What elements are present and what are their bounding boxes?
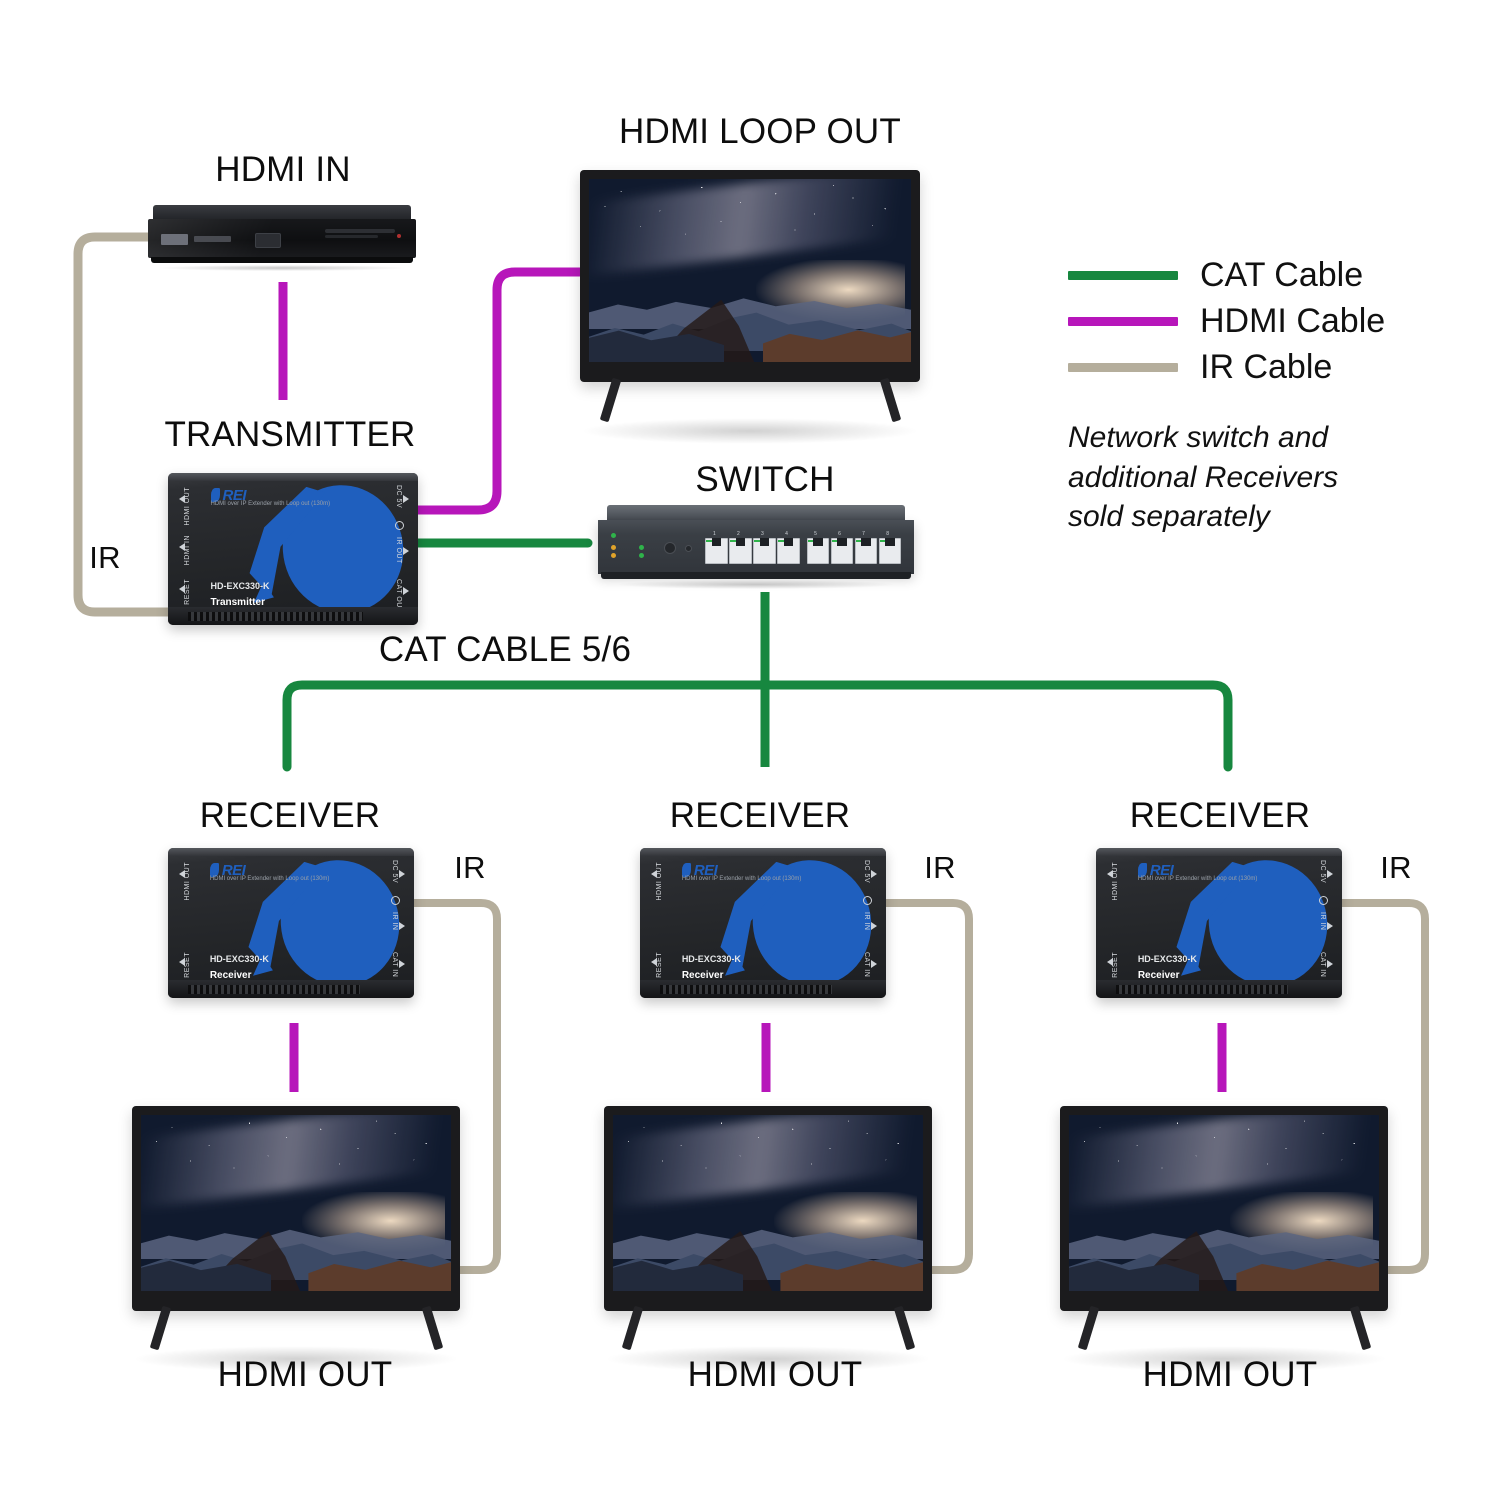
- port-hdmi-out: HDMI OUT: [184, 862, 191, 901]
- switch-power-led: [611, 533, 616, 538]
- port-led-1: [706, 540, 712, 542]
- port-led-3: [754, 540, 760, 542]
- port-led-4: [778, 540, 784, 542]
- tv-foot-right: [880, 378, 901, 423]
- port-hdmi-out: HDMI OUT: [184, 487, 191, 526]
- tv-shadow: [132, 1346, 460, 1372]
- dvd-display: [325, 235, 379, 238]
- port-cat-in: CAT IN: [1319, 952, 1326, 977]
- port-marker-dc: [399, 870, 405, 878]
- dvd-tray-icon: [255, 233, 281, 248]
- port-hdmi-out: HDMI OUT: [1112, 862, 1119, 901]
- port-marker-cat-out: [403, 587, 409, 595]
- switch-port-7[interactable]: [855, 538, 877, 564]
- label-hdmi-loop-out: HDMI LOOP OUT: [555, 112, 965, 152]
- dvd-logo-icon: [161, 234, 188, 244]
- tv-shadow: [580, 418, 920, 444]
- device-model: HD-EXC330-K: [682, 954, 741, 964]
- label-switch: SWITCH: [605, 460, 925, 500]
- device-subtitle: HDMI over IP Extender with Loop out (130…: [1138, 876, 1258, 882]
- tv-screen: [141, 1115, 451, 1291]
- dvd-front-panel: [148, 219, 416, 259]
- switch-shadow: [617, 580, 895, 588]
- switch-front-panel: 1 2 3 4 5 6 7 8: [598, 520, 914, 574]
- dvd-disc-slot: [325, 229, 395, 233]
- chassis-vents: [188, 612, 363, 621]
- port-marker-cat-in: [399, 960, 405, 968]
- label-ir-transmitter: IR: [75, 540, 135, 576]
- port-ir-in: IR IN: [391, 912, 398, 930]
- device-model: HD-EXC330-K: [211, 581, 270, 591]
- port-led-5: [808, 540, 814, 542]
- transmitter-device: REI HDMI over IP Extender with Loop out …: [168, 473, 418, 625]
- label-hdmi-in: HDMI IN: [83, 150, 483, 190]
- receiver-device-1: REI HDMI over IP Extender with Loop out …: [168, 848, 414, 998]
- port-ir-in: IR IN: [863, 912, 870, 930]
- legend-item-ir: IR Cable: [1068, 344, 1385, 390]
- tv-loop-out: [580, 170, 920, 382]
- device-subtitle: HDMI over IP Extender with Loop out (130…: [210, 876, 330, 882]
- port-number-8: 8: [886, 531, 889, 537]
- device-subtitle: HDMI over IP Extender with Loop out (130…: [682, 876, 802, 882]
- port-ir-out: IR OUT: [395, 537, 402, 564]
- port-marker-reset: [179, 958, 185, 966]
- legend-label-cat: CAT Cable: [1200, 256, 1363, 295]
- label-receiver-2: RECEIVER: [565, 796, 955, 836]
- device-subtitle: HDMI over IP Extender with Loop out (130…: [211, 501, 331, 507]
- receiver-device-3: REI HDMI over IP Extender with Loop out …: [1096, 848, 1342, 998]
- port-marker-ir-out: [403, 547, 409, 555]
- port-dc-5v: DC 5V: [391, 860, 398, 883]
- label-transmitter: TRANSMITTER: [90, 415, 490, 455]
- legend-label-ir: IR Cable: [1200, 348, 1332, 387]
- receiver-chassis: REI HDMI over IP Extender with Loop out …: [1096, 848, 1342, 998]
- port-reset: RESET: [656, 952, 663, 978]
- port-marker-ir-in: [1327, 922, 1333, 930]
- port-marker-cat-in: [871, 960, 877, 968]
- legend-item-hdmi: HDMI Cable: [1068, 298, 1385, 344]
- port-cat-in: CAT IN: [391, 952, 398, 977]
- switch-port-3[interactable]: [753, 538, 775, 564]
- status-led-icon: [863, 896, 872, 905]
- chassis-vents: [660, 985, 832, 994]
- legend-swatch-hdmi: [1068, 317, 1178, 326]
- label-receiver-1: RECEIVER: [95, 796, 485, 836]
- orei-mark-icon: [1138, 863, 1147, 877]
- port-led-2: [730, 540, 736, 542]
- port-reset: RESET: [1112, 952, 1119, 978]
- tv-hdmi-out-3: [1060, 1106, 1388, 1311]
- chassis-vents: [188, 985, 360, 994]
- legend-note: Network switch and additional Receivers …: [1068, 418, 1398, 537]
- port-number-4: 4: [785, 531, 788, 537]
- chassis-top-edge: [640, 848, 886, 856]
- switch-link-led: [611, 553, 616, 558]
- port-marker-reset: [651, 958, 657, 966]
- network-switch: 1 2 3 4 5 6 7 8: [598, 505, 914, 587]
- dvd-shadow: [159, 265, 406, 271]
- switch-poe-led: [611, 545, 616, 550]
- legend-item-cat: CAT Cable: [1068, 252, 1385, 298]
- port-reset: RESET: [184, 579, 191, 605]
- cat-cable-bus: [287, 685, 1228, 767]
- switch-base: [601, 572, 911, 579]
- port-number-6: 6: [838, 531, 841, 537]
- port-marker-hdmi-out: [1107, 870, 1113, 878]
- chassis-vents: [1116, 985, 1288, 994]
- port-led-7: [856, 540, 862, 542]
- switch-reset-button[interactable]: [685, 545, 692, 552]
- port-marker-cat-in: [1327, 960, 1333, 968]
- hdmi-cable-loopout: [415, 272, 580, 510]
- chassis-top-edge: [1096, 848, 1342, 856]
- receiver-chassis: REI HDMI over IP Extender with Loop out …: [640, 848, 886, 998]
- port-marker-dc: [403, 495, 409, 503]
- dvd-power-led: [397, 234, 401, 238]
- port-number-5: 5: [814, 531, 817, 537]
- chassis-top-edge: [168, 848, 414, 856]
- port-number-2: 2: [737, 531, 740, 537]
- port-cat-in: CAT IN: [863, 952, 870, 977]
- diagram-canvas: HDMI IN HDMI LOOP OUT TRANSMITTER SWITCH…: [0, 0, 1500, 1500]
- label-ir-receiver-1: IR: [440, 850, 500, 886]
- tv-screen: [613, 1115, 923, 1291]
- tv-foot-right: [894, 1306, 915, 1351]
- tv-shadow: [1060, 1346, 1388, 1372]
- tv-hdmi-out-1: [132, 1106, 460, 1311]
- label-cat-cable: CAT CABLE 5/6: [290, 630, 720, 670]
- switch-port-2[interactable]: [729, 538, 751, 564]
- tv-screen: [1069, 1115, 1379, 1291]
- dvd-hdmi-badge: [194, 236, 232, 242]
- switch-mode-led-b: [639, 553, 644, 558]
- dvd-player: [148, 205, 416, 267]
- port-dc-5v: DC 5V: [395, 485, 402, 508]
- port-marker-ir-in: [871, 922, 877, 930]
- tv-foot-left: [1078, 1306, 1099, 1351]
- switch-port-6[interactable]: [831, 538, 853, 564]
- port-hdmi-in: HDMI IN: [184, 535, 191, 565]
- tv-hdmi-out-2: [604, 1106, 932, 1311]
- port-reset: RESET: [184, 952, 191, 978]
- legend: CAT Cable HDMI Cable IR Cable: [1068, 252, 1385, 390]
- dvd-base: [151, 257, 414, 263]
- port-led-6: [832, 540, 838, 542]
- receiver-device-2: REI HDMI over IP Extender with Loop out …: [640, 848, 886, 998]
- label-receiver-3: RECEIVER: [1025, 796, 1415, 836]
- receiver-chassis: REI HDMI over IP Extender with Loop out …: [168, 848, 414, 998]
- port-hdmi-out: HDMI OUT: [656, 862, 663, 901]
- tv-foot-left: [600, 378, 621, 423]
- chassis-top-edge: [168, 473, 418, 481]
- port-dc-5v: DC 5V: [863, 860, 870, 883]
- device-model: HD-EXC330-K: [1138, 954, 1197, 964]
- status-led-icon: [1319, 896, 1328, 905]
- status-led-icon: [391, 896, 400, 905]
- port-led-8: [880, 540, 886, 542]
- port-number-1: 1: [713, 531, 716, 537]
- switch-port-1[interactable]: [705, 538, 727, 564]
- switch-port-5[interactable]: [807, 538, 829, 564]
- port-marker-hdmi-out: [651, 870, 657, 878]
- port-marker-hdmi-in: [179, 543, 185, 551]
- label-ir-receiver-3: IR: [1366, 850, 1426, 886]
- port-number-7: 7: [862, 531, 865, 537]
- port-dc-5v: DC 5V: [1319, 860, 1326, 883]
- legend-label-hdmi: HDMI Cable: [1200, 302, 1385, 341]
- port-marker-hdmi-out: [179, 495, 185, 503]
- switch-mode-led-a: [639, 545, 644, 550]
- tv-foot-left: [622, 1306, 643, 1351]
- port-ir-in: IR IN: [1319, 912, 1326, 930]
- tv-foot-left: [150, 1306, 171, 1351]
- switch-port-4[interactable]: [777, 538, 799, 564]
- switch-port-8[interactable]: [879, 538, 901, 564]
- legend-swatch-cat: [1068, 271, 1178, 280]
- legend-swatch-ir: [1068, 363, 1178, 372]
- port-marker-dc: [871, 870, 877, 878]
- orei-mark-icon: [682, 863, 691, 877]
- port-marker-ir-in: [399, 922, 405, 930]
- port-marker-dc: [1327, 870, 1333, 878]
- status-led-icon: [395, 521, 404, 530]
- transmitter-chassis: REI HDMI over IP Extender with Loop out …: [168, 473, 418, 625]
- switch-mode-button[interactable]: [664, 542, 676, 554]
- port-marker-reset: [179, 585, 185, 593]
- device-model: HD-EXC330-K: [210, 954, 269, 964]
- port-marker-reset: [1107, 958, 1113, 966]
- label-ir-receiver-2: IR: [910, 850, 970, 886]
- orei-mark-icon: [210, 863, 219, 877]
- tv-foot-right: [1350, 1306, 1371, 1351]
- tv-foot-right: [422, 1306, 443, 1351]
- tv-shadow: [604, 1346, 932, 1372]
- port-marker-hdmi-out: [179, 870, 185, 878]
- port-number-3: 3: [761, 531, 764, 537]
- tv-screen: [589, 179, 911, 362]
